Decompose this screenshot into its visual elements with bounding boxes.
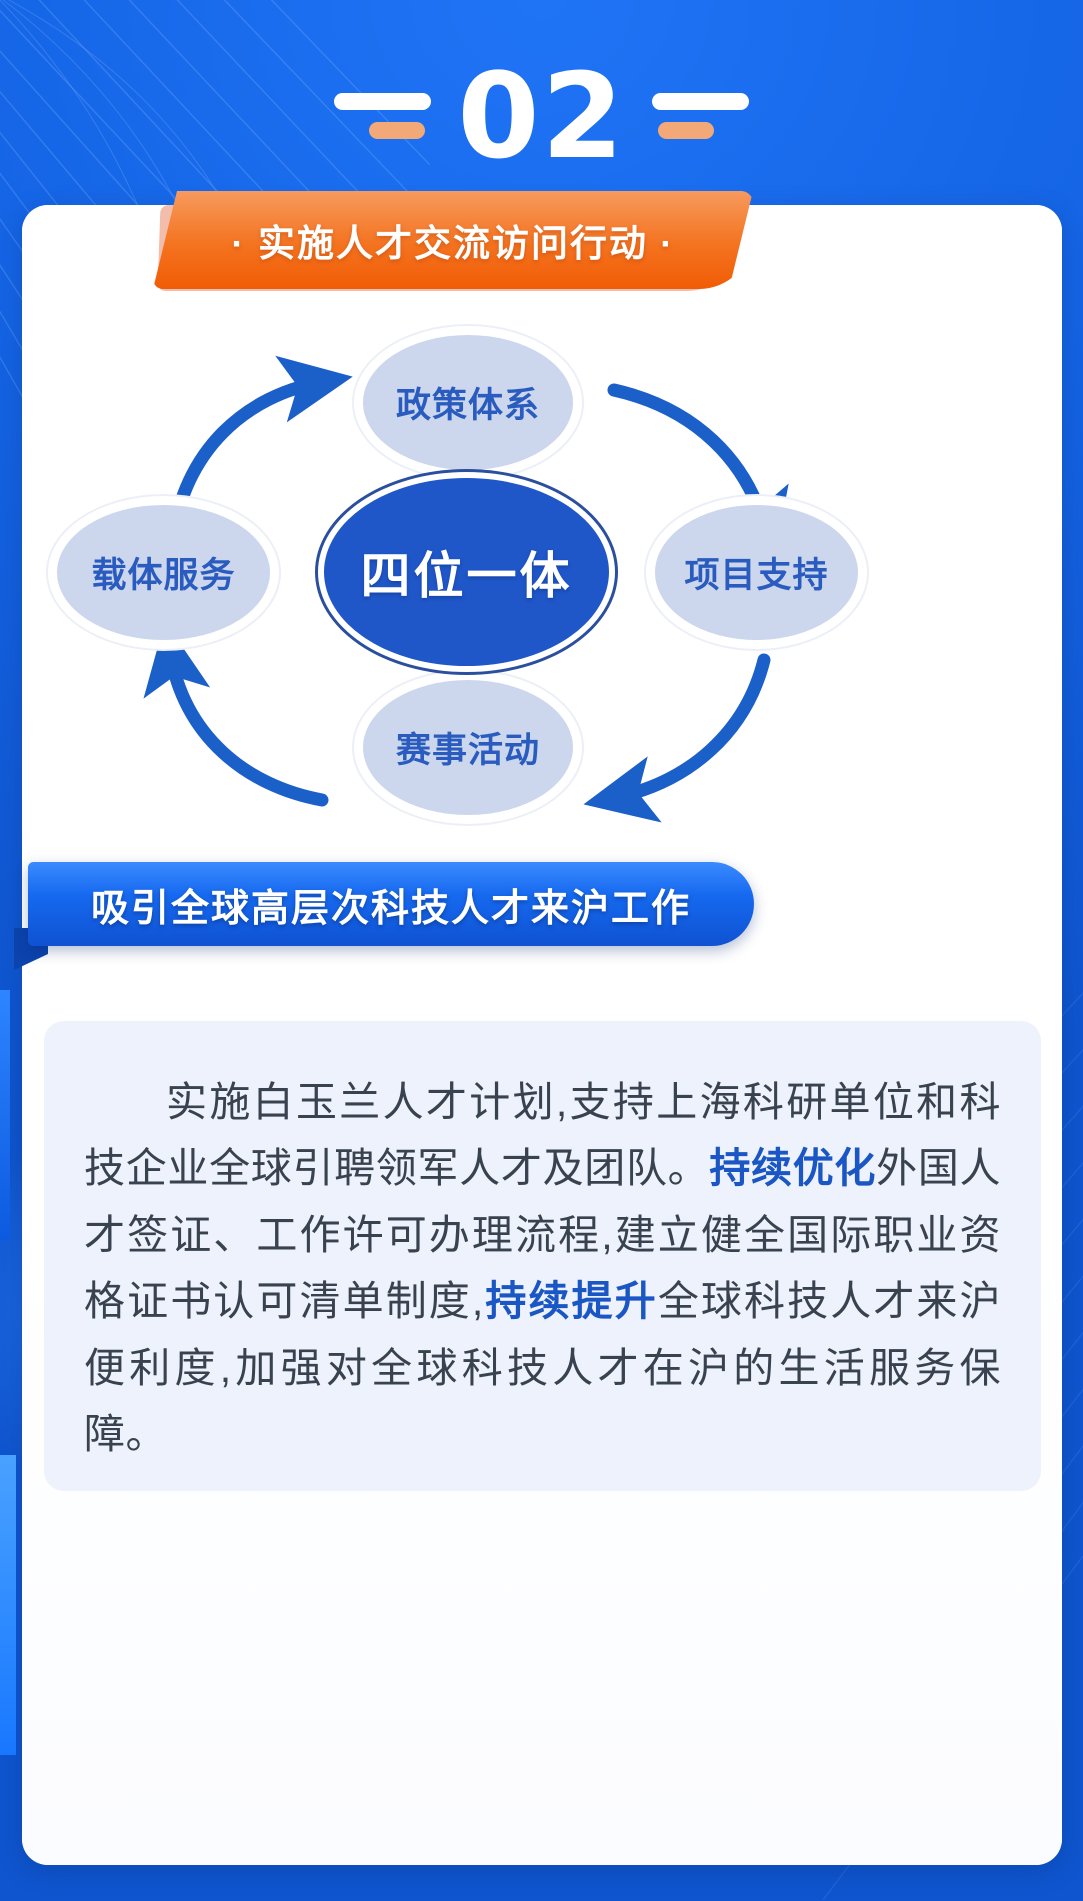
left-accent-bar-upper [0, 990, 10, 1240]
section-header: 02 [0, 46, 1083, 186]
description-paragraph: 实施白玉兰人才计划,支持上海科研单位和科技企业全球引聘领军人才及团队。持续优化外… [84, 1069, 1001, 1467]
paragraph-highlight: 持续提升 [484, 1278, 658, 1324]
cycle-diagram: 政策体系 项目支持 赛事活动 载体服务 四位一体 [22, 300, 1062, 860]
banner-shape: · 实施人才交流访问行动 · [153, 191, 753, 289]
ribbon-text: 吸引全球高层次科技人才来沪工作 [91, 877, 691, 932]
section-number: 02 [457, 57, 625, 175]
dash-orange [658, 122, 714, 139]
dash-decor-right-icon [652, 93, 749, 139]
diagram-node-policy[interactable]: 政策体系 [363, 335, 573, 470]
dash-orange [369, 122, 425, 139]
left-accent-bar-lower [0, 1455, 16, 1755]
paragraph-highlight: 持续优化 [709, 1145, 876, 1191]
section-title-banner: · 实施人才交流访问行动 · [153, 191, 753, 291]
node-label: 赛事活动 [396, 722, 540, 773]
diagram-node-events[interactable]: 赛事活动 [363, 680, 573, 815]
section-title-text: · 实施人才交流访问行动 · [231, 213, 674, 267]
diagram-node-carrier-service[interactable]: 载体服务 [57, 505, 270, 640]
ribbon-bar: 吸引全球高层次科技人才来沪工作 [28, 862, 754, 946]
description-panel: 实施白玉兰人才计划,支持上海科研单位和科技企业全球引聘领军人才及团队。持续优化外… [44, 1021, 1041, 1491]
diagram-node-project-support[interactable]: 项目支持 [655, 505, 858, 640]
center-node-label: 四位一体 [361, 536, 573, 608]
highlight-ribbon-banner: 吸引全球高层次科技人才来沪工作 [14, 862, 754, 950]
arrow-right-to-bottom [614, 660, 764, 798]
node-label: 项目支持 [684, 547, 828, 598]
dash-white [652, 93, 749, 110]
dash-white [334, 93, 431, 110]
arrow-bottom-to-left [170, 652, 322, 800]
dash-decor-left-icon [334, 93, 431, 139]
node-label: 政策体系 [396, 377, 540, 428]
node-label: 载体服务 [91, 547, 235, 598]
diagram-node-center[interactable]: 四位一体 [324, 478, 609, 666]
